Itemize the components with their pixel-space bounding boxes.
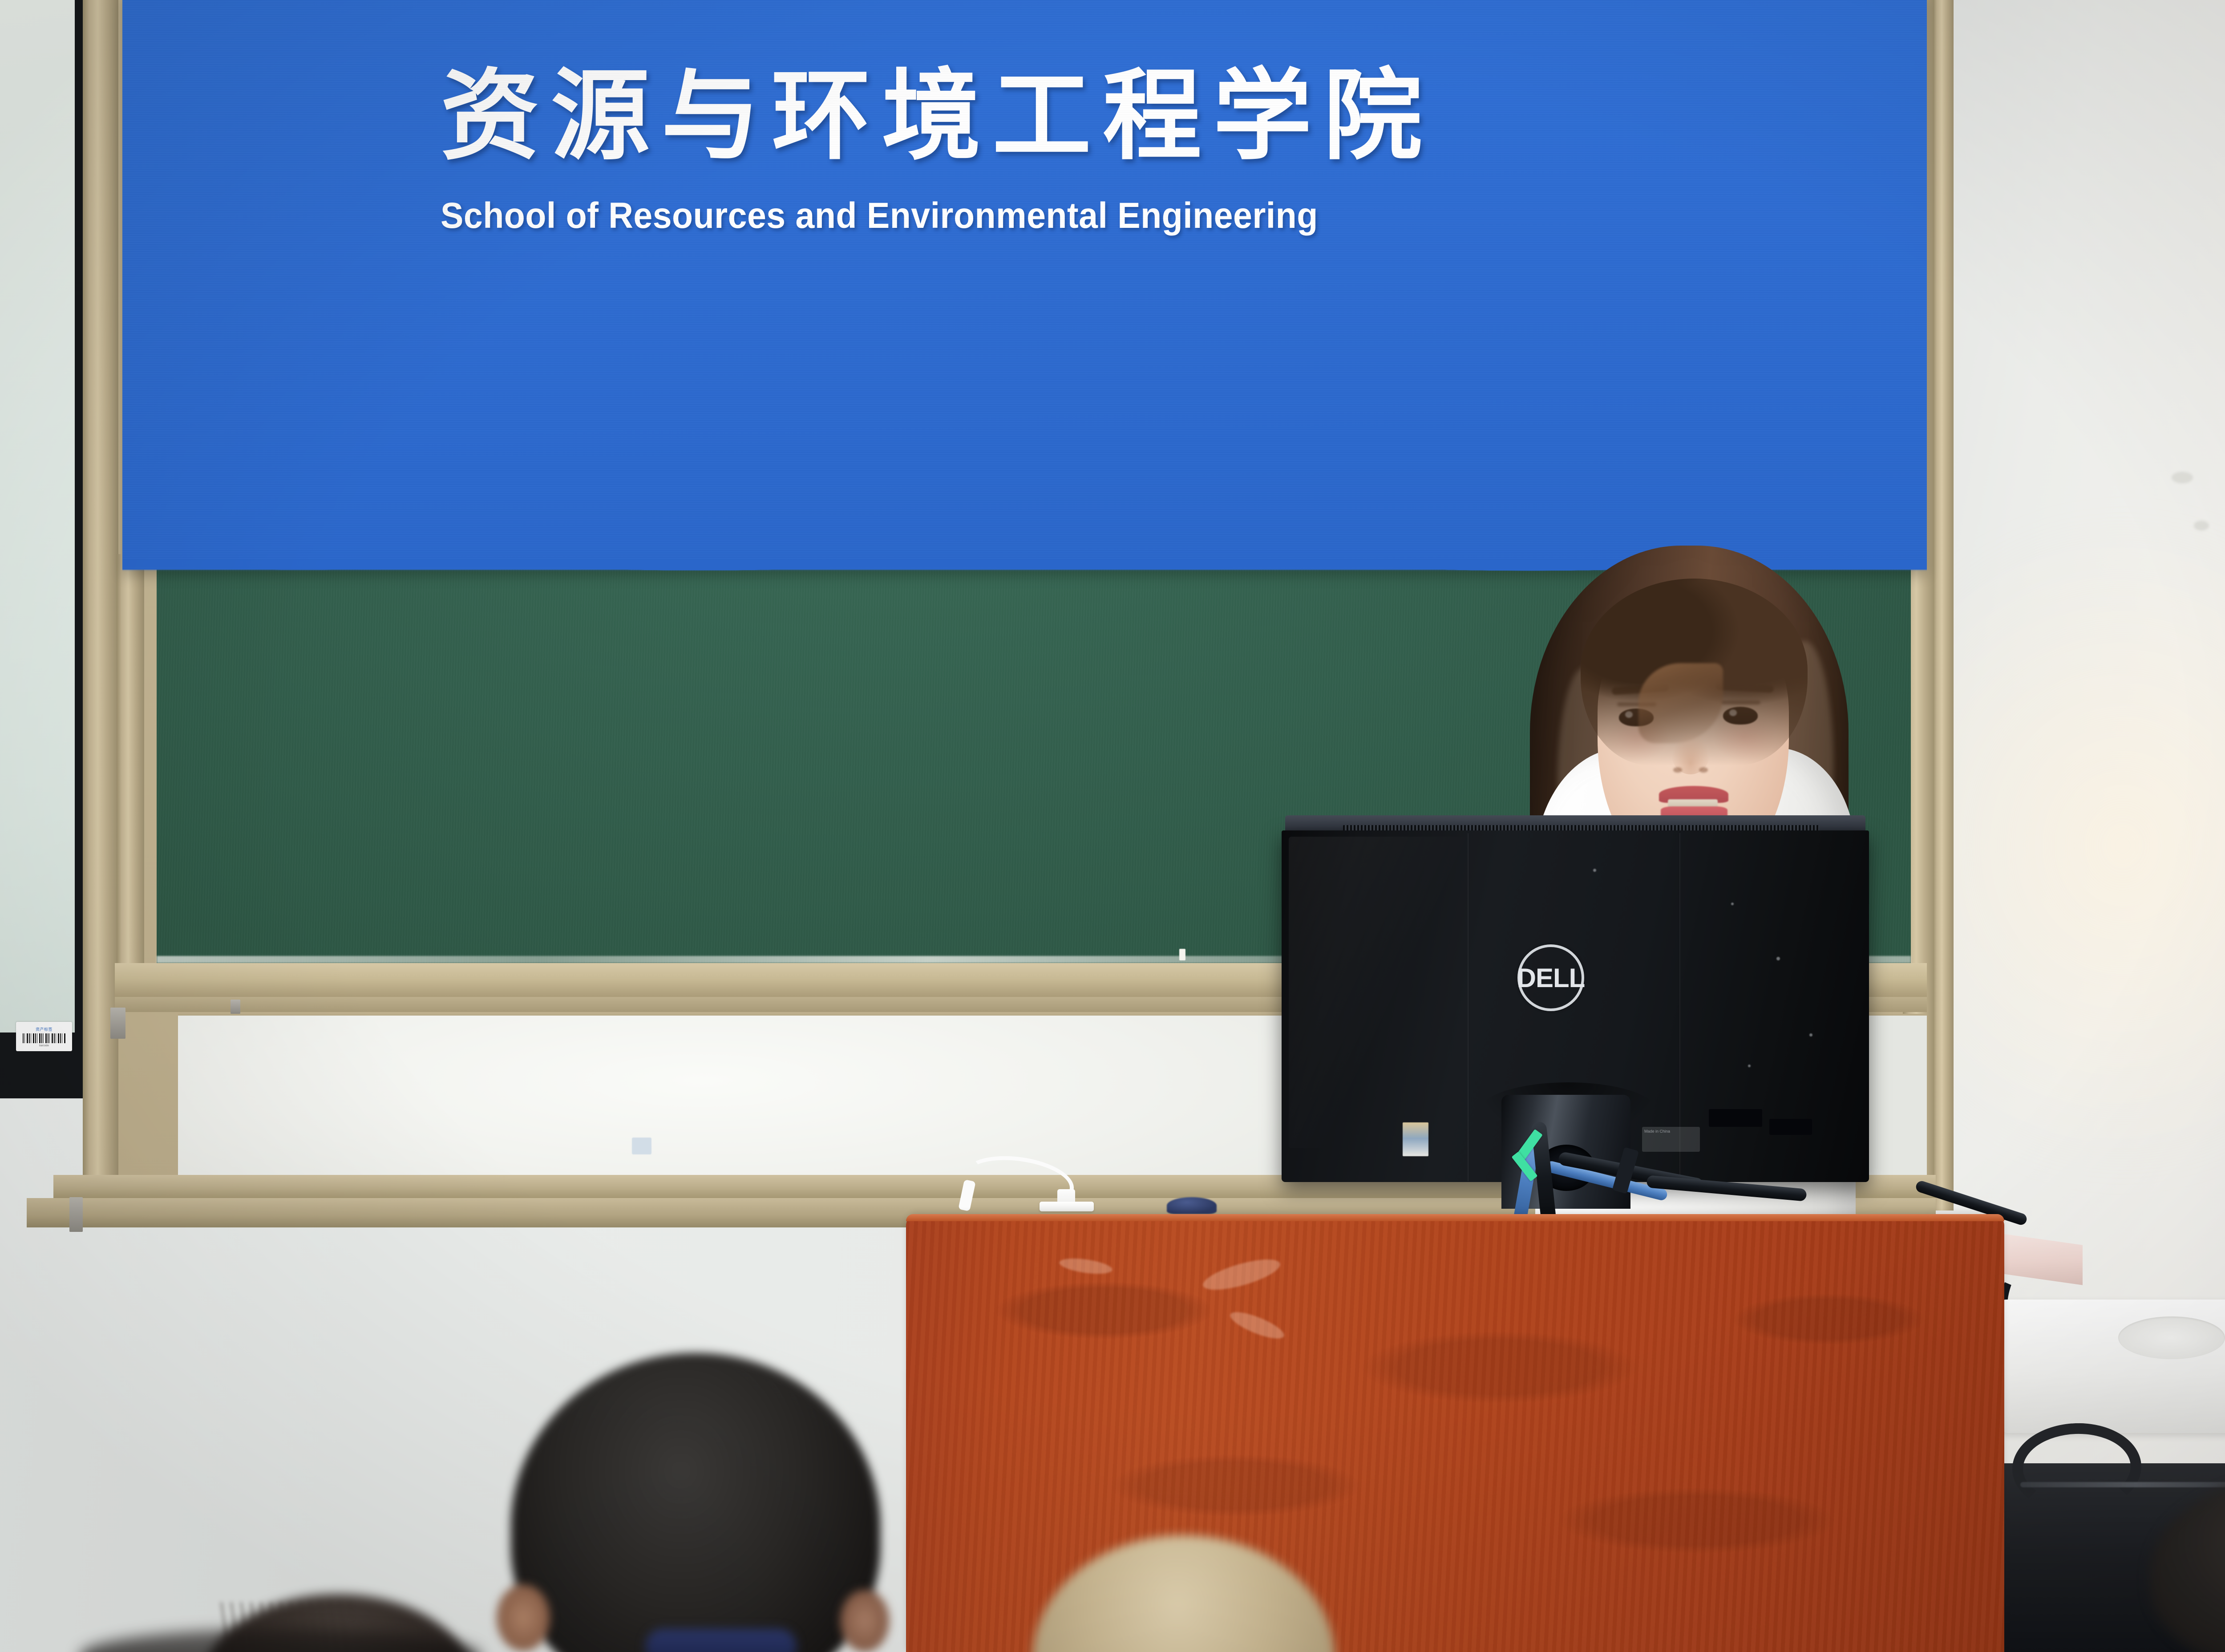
chalkboard-inner-mullion bbox=[117, 554, 144, 1004]
wall-mark bbox=[2172, 472, 2193, 483]
audience-ear bbox=[497, 1584, 550, 1651]
dust-speck bbox=[1776, 957, 1780, 960]
barcode-icon bbox=[23, 1033, 65, 1043]
department-banner: 资源与环境工程学院 School of Resources and Enviro… bbox=[122, 0, 1927, 570]
dell-logo-icon: DELL bbox=[1517, 944, 1584, 1011]
dell-wordmark: DELL bbox=[1517, 963, 1585, 993]
dust-speck bbox=[1593, 869, 1596, 872]
audience-ear bbox=[840, 1590, 889, 1652]
wall-mark bbox=[2194, 521, 2209, 530]
banner-title-chinese: 资源与环境工程学院 bbox=[441, 67, 1434, 166]
monitor-regulatory-label: Made in China bbox=[1642, 1127, 1700, 1152]
dust-speck bbox=[1809, 1033, 1812, 1037]
podium-top-edge bbox=[906, 1214, 2004, 1221]
monitor-gloss-reflection bbox=[1289, 837, 1480, 1148]
monitor-port bbox=[1769, 1119, 1812, 1135]
magnet-icon[interactable] bbox=[632, 1138, 651, 1154]
asset-tag-header: 资产标签 bbox=[36, 1026, 53, 1032]
asset-tag-code: barcode bbox=[39, 1045, 49, 1047]
rail-bracket bbox=[110, 1008, 125, 1039]
charger-adapter[interactable] bbox=[1040, 1202, 1094, 1211]
lecture-hall-photo: 资产标签 barcode 资源与环境工程学院 School of Resourc… bbox=[0, 0, 2225, 1652]
dell-monitor: DELL Made in China bbox=[1282, 815, 1869, 1209]
rail-stop bbox=[231, 1000, 240, 1014]
projector-screen-surface bbox=[0, 0, 75, 1032]
chalk-stick[interactable] bbox=[1179, 949, 1185, 960]
nostril-right bbox=[1699, 767, 1708, 773]
wall-light-glow bbox=[1927, 512, 2225, 1179]
banner-text-block: 资源与环境工程学院 School of Resources and Enviro… bbox=[245, 67, 1954, 234]
desk-object[interactable] bbox=[1167, 1197, 1217, 1214]
banner-title-english: School of Resources and Environmental En… bbox=[441, 198, 1318, 234]
rail-bracket bbox=[69, 1197, 83, 1232]
nostril-left bbox=[1673, 767, 1682, 773]
monitor-asset-sticker bbox=[1403, 1122, 1428, 1156]
chair-handle-slot bbox=[2118, 1316, 2225, 1359]
audience-collar bbox=[645, 1629, 797, 1652]
dust-speck bbox=[1748, 1065, 1751, 1067]
dust-speck bbox=[1731, 903, 1734, 905]
monitor-port bbox=[1709, 1109, 1762, 1127]
bag-zipper bbox=[2020, 1482, 2225, 1487]
asset-tag-sticker: 资产标签 barcode bbox=[16, 1022, 72, 1051]
